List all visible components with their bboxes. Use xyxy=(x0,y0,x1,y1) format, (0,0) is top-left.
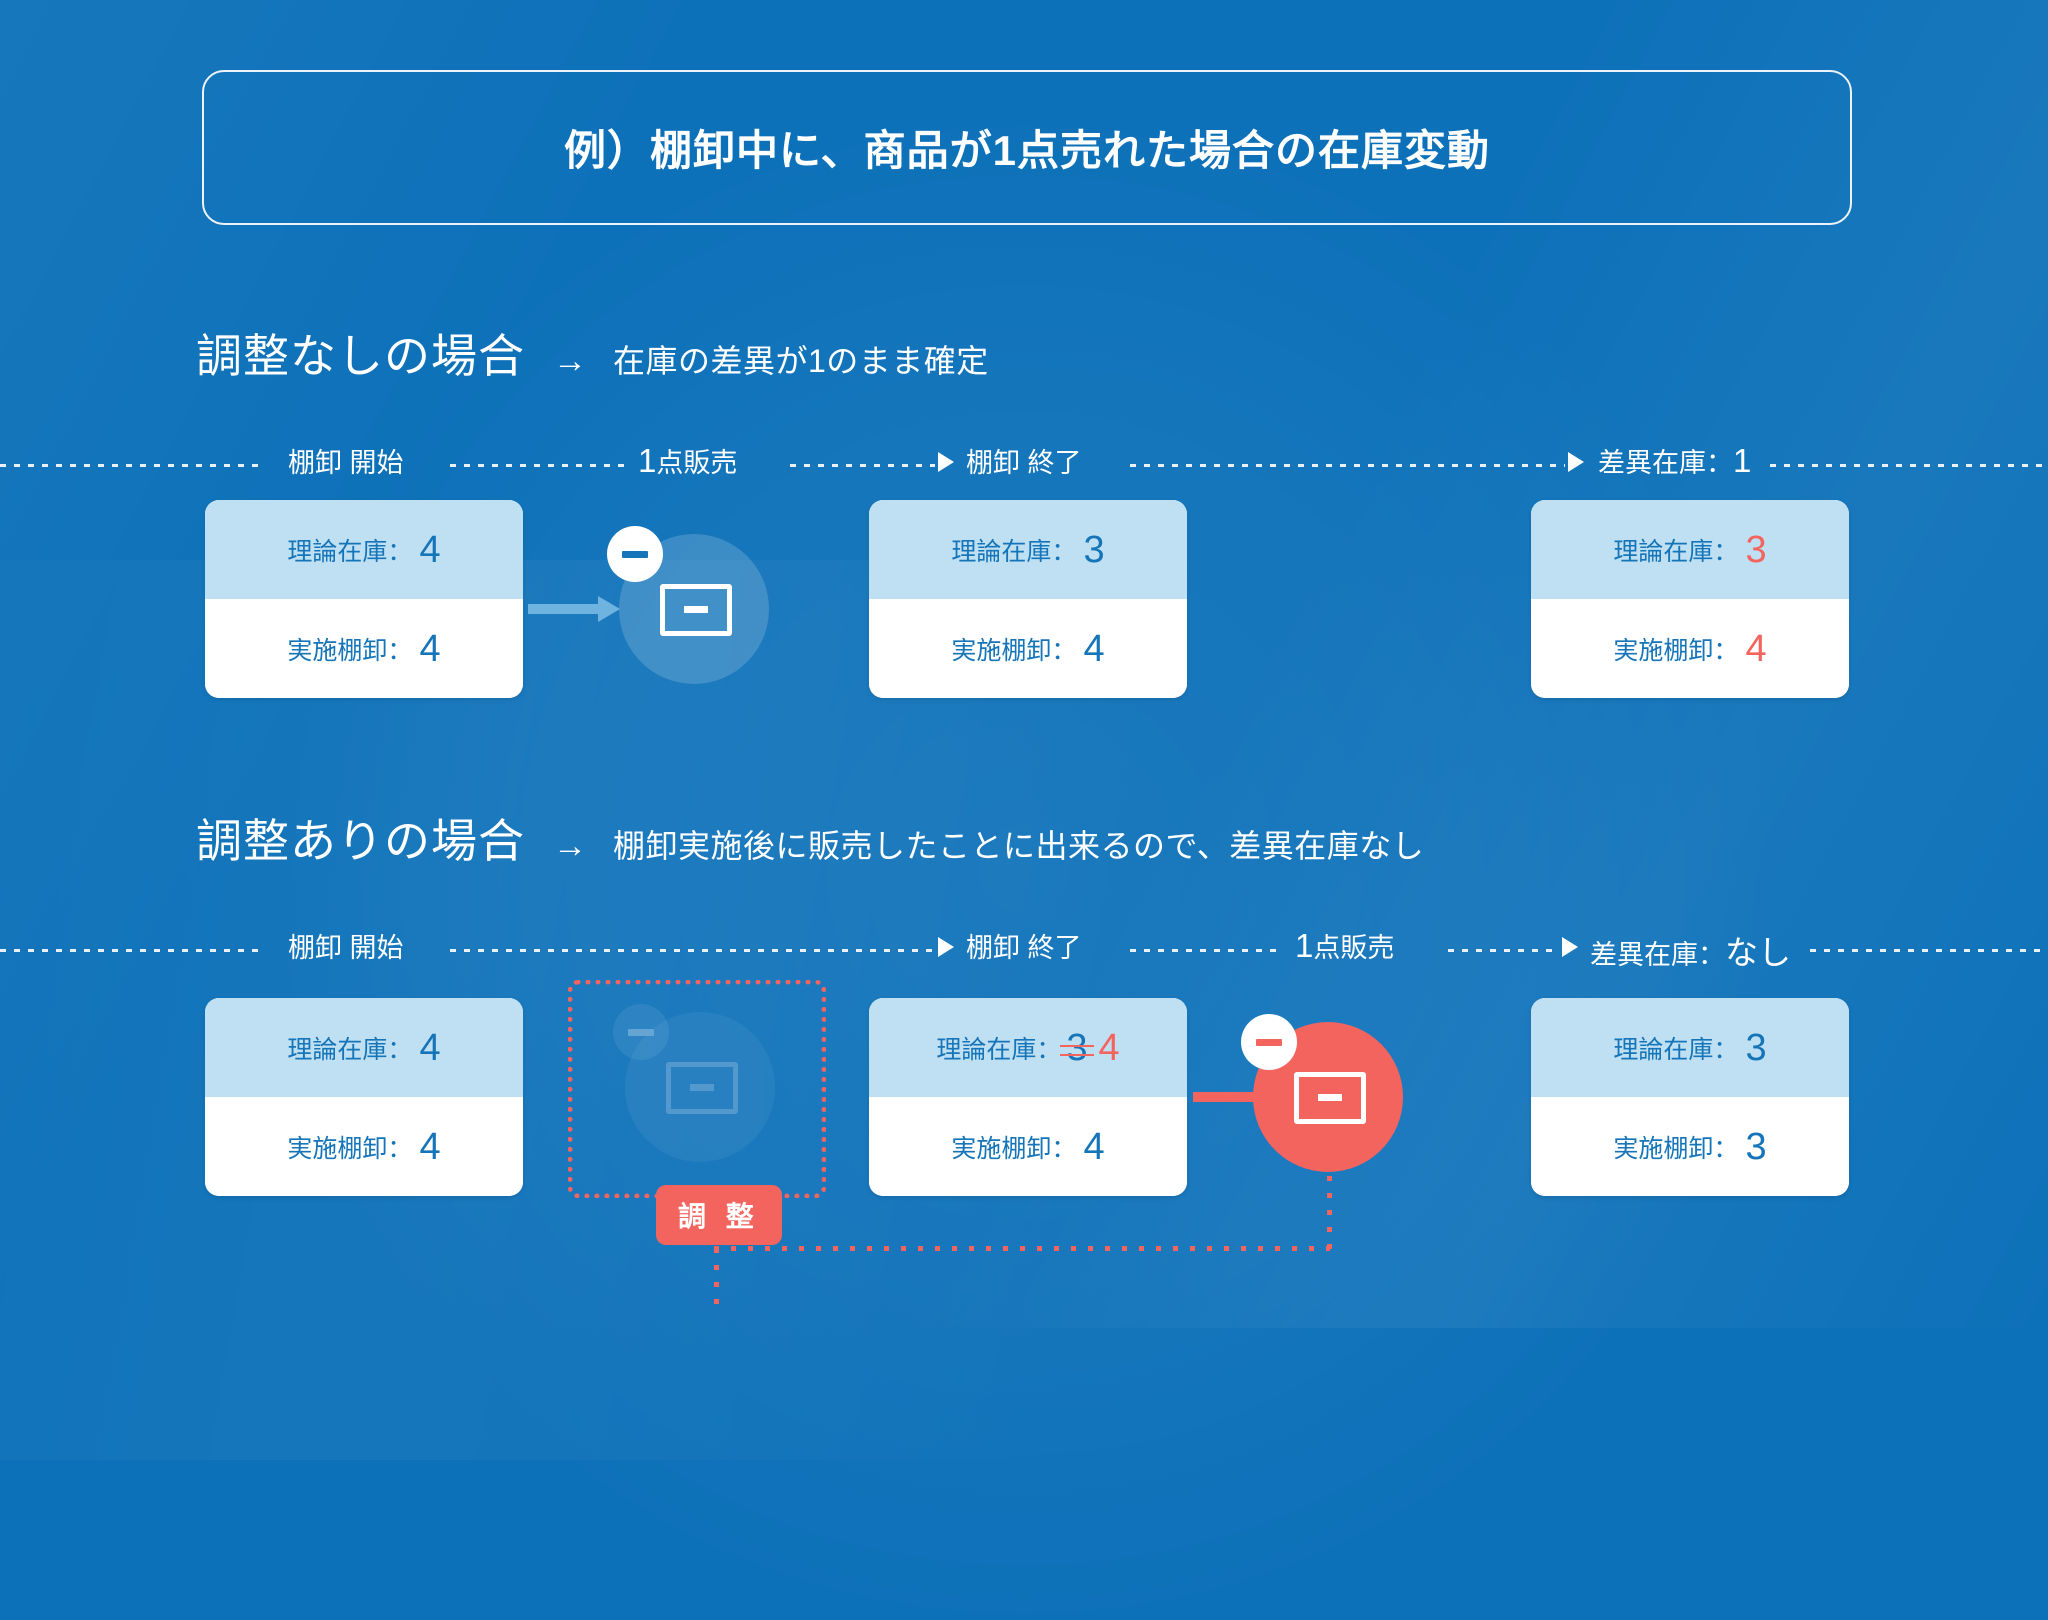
minus-badge-icon xyxy=(1241,1014,1297,1070)
theoretical-stock-row: 理論在庫： 4 xyxy=(205,500,523,599)
timeline-label-one-sale: 1点販売 xyxy=(638,441,737,480)
sale-event-icon-ghost xyxy=(625,1012,775,1162)
timeline-label-inventory-start: 棚卸 開始 xyxy=(288,926,404,965)
theoretical-stock-value-old: 3 xyxy=(1066,1029,1087,1067)
section-2-description: 棚卸実施後に販売したことに出来るので、差異在庫なし xyxy=(613,821,1424,867)
stock-card: 理論在庫： 4 実施棚卸： 4 xyxy=(205,500,523,698)
section-1-timeline: 棚卸 開始 1点販売 棚卸 終了 差異在庫：1 xyxy=(0,445,2048,485)
inventory-box-icon xyxy=(1294,1072,1366,1124)
actual-count-value: 4 xyxy=(419,1128,440,1166)
theoretical-stock-label: 理論在庫： xyxy=(1613,1030,1738,1066)
arrow-right-icon: → xyxy=(553,827,587,866)
actual-count-label: 実施棚卸： xyxy=(1613,631,1738,667)
page-title: 例）棚卸中に、商品が1点売れた場合の在庫変動 xyxy=(564,117,1490,178)
actual-count-value: 4 xyxy=(1083,1128,1104,1166)
section-2-header: 調整ありの場合 → 棚卸実施後に販売したことに出来るので、差異在庫なし xyxy=(196,805,1424,871)
actual-count-label: 実施棚卸： xyxy=(287,1129,412,1165)
theoretical-stock-value: 4 xyxy=(419,1029,440,1067)
minus-badge-icon xyxy=(607,526,663,582)
timeline-label-inventory-start: 棚卸 開始 xyxy=(288,441,404,480)
theoretical-stock-label: 理論在庫： xyxy=(1613,532,1738,568)
sale-event-icon-row1 xyxy=(619,534,769,684)
actual-count-row: 実施棚卸： 4 xyxy=(1531,599,1849,698)
theoretical-stock-value: 3 xyxy=(1745,1029,1766,1067)
stock-card: 理論在庫： 4 実施棚卸： 4 xyxy=(205,998,523,1196)
actual-count-row: 実施棚卸： 3 xyxy=(1531,1097,1849,1196)
timeline-segment xyxy=(1448,949,1558,952)
stock-card: 理論在庫： 3 4 実施棚卸： 4 xyxy=(869,998,1187,1196)
timeline-segment xyxy=(1770,464,2048,467)
arrow-shaft xyxy=(528,604,600,614)
connector-segment-vertical xyxy=(714,1248,719,1306)
timeline-arrow-icon xyxy=(1568,452,1584,472)
theoretical-stock-value: 3 xyxy=(1083,531,1104,569)
timeline-label-variance: 差異在庫：1 xyxy=(1598,441,1751,480)
timeline-segment xyxy=(0,464,265,467)
timeline-arrow-icon xyxy=(938,452,954,472)
actual-count-label: 実施棚卸： xyxy=(951,1129,1076,1165)
timeline-segment xyxy=(450,464,630,467)
actual-count-value: 4 xyxy=(1083,630,1104,668)
timeline-segment xyxy=(0,949,265,952)
stock-card: 理論在庫： 3 実施棚卸： 4 xyxy=(1531,500,1849,698)
timeline-segment xyxy=(450,949,935,952)
timeline-arrow-icon xyxy=(938,937,954,957)
timeline-segment xyxy=(1130,464,1565,467)
actual-count-row: 実施棚卸： 4 xyxy=(869,1097,1187,1196)
theoretical-stock-label: 理論在庫： xyxy=(287,1030,412,1066)
actual-count-value: 3 xyxy=(1745,1128,1766,1166)
section-1-heading: 調整なしの場合 xyxy=(196,320,525,386)
sale-event-icon-row2 xyxy=(1253,1022,1403,1172)
actual-count-row: 実施棚卸： 4 xyxy=(205,599,523,698)
timeline-segment xyxy=(1810,949,2048,952)
adjustment-badge[interactable]: 調 整 xyxy=(656,1185,782,1245)
theoretical-stock-row: 理論在庫： 3 xyxy=(869,500,1187,599)
theoretical-stock-value: 4 xyxy=(1099,1029,1120,1067)
theoretical-stock-row: 理論在庫： 3 xyxy=(1531,998,1849,1097)
theoretical-stock-label: 理論在庫： xyxy=(951,532,1076,568)
arrow-right-icon: → xyxy=(553,342,587,381)
theoretical-stock-value: 3 xyxy=(1745,531,1766,569)
timeline-label-variance: 差異在庫：なし xyxy=(1590,926,1791,974)
actual-count-label: 実施棚卸： xyxy=(951,631,1076,667)
timeline-segment xyxy=(790,464,935,467)
diagram-canvas: 例）棚卸中に、商品が1点売れた場合の在庫変動 調整なしの場合 → 在庫の差異が1… xyxy=(0,0,2048,1328)
timeline-label-inventory-end: 棚卸 終了 xyxy=(966,926,1082,965)
theoretical-stock-row: 理論在庫： 3 4 xyxy=(869,998,1187,1097)
connector-segment-horizontal xyxy=(714,1246,1330,1251)
actual-count-label: 実施棚卸： xyxy=(1613,1129,1738,1165)
stock-card: 理論在庫： 3 実施棚卸： 4 xyxy=(869,500,1187,698)
inventory-box-icon xyxy=(666,1062,738,1114)
section-2-heading: 調整ありの場合 xyxy=(196,805,525,871)
actual-count-label: 実施棚卸： xyxy=(287,631,412,667)
actual-count-row: 実施棚卸： 4 xyxy=(205,1097,523,1196)
timeline-label-one-sale: 1点販売 xyxy=(1295,926,1394,965)
timeline-segment xyxy=(1130,949,1278,952)
actual-count-row: 実施棚卸： 4 xyxy=(869,599,1187,698)
theoretical-stock-value: 4 xyxy=(419,531,440,569)
timeline-arrow-icon xyxy=(1562,937,1578,957)
timeline-label-inventory-end: 棚卸 終了 xyxy=(966,441,1082,480)
stock-card: 理論在庫： 3 実施棚卸： 3 xyxy=(1531,998,1849,1196)
theoretical-stock-row: 理論在庫： 4 xyxy=(205,998,523,1097)
inventory-box-icon xyxy=(660,584,732,636)
flow-arrow-to-sale xyxy=(528,604,620,614)
minus-badge-icon xyxy=(613,1004,669,1060)
theoretical-stock-row: 理論在庫： 3 xyxy=(1531,500,1849,599)
actual-count-value: 4 xyxy=(419,630,440,668)
arrow-head-icon xyxy=(598,596,620,622)
theoretical-stock-label: 理論在庫： xyxy=(287,532,412,568)
actual-count-value: 4 xyxy=(1745,630,1766,668)
theoretical-stock-label: 理論在庫： xyxy=(936,1030,1061,1066)
section-1-description: 在庫の差異が1のまま確定 xyxy=(613,336,989,382)
section-1-header: 調整なしの場合 → 在庫の差異が1のまま確定 xyxy=(196,320,989,386)
title-box: 例）棚卸中に、商品が1点売れた場合の在庫変動 xyxy=(202,70,1852,225)
section-2-timeline: 棚卸 開始 棚卸 終了 1点販売 差異在庫：なし xyxy=(0,930,2048,970)
